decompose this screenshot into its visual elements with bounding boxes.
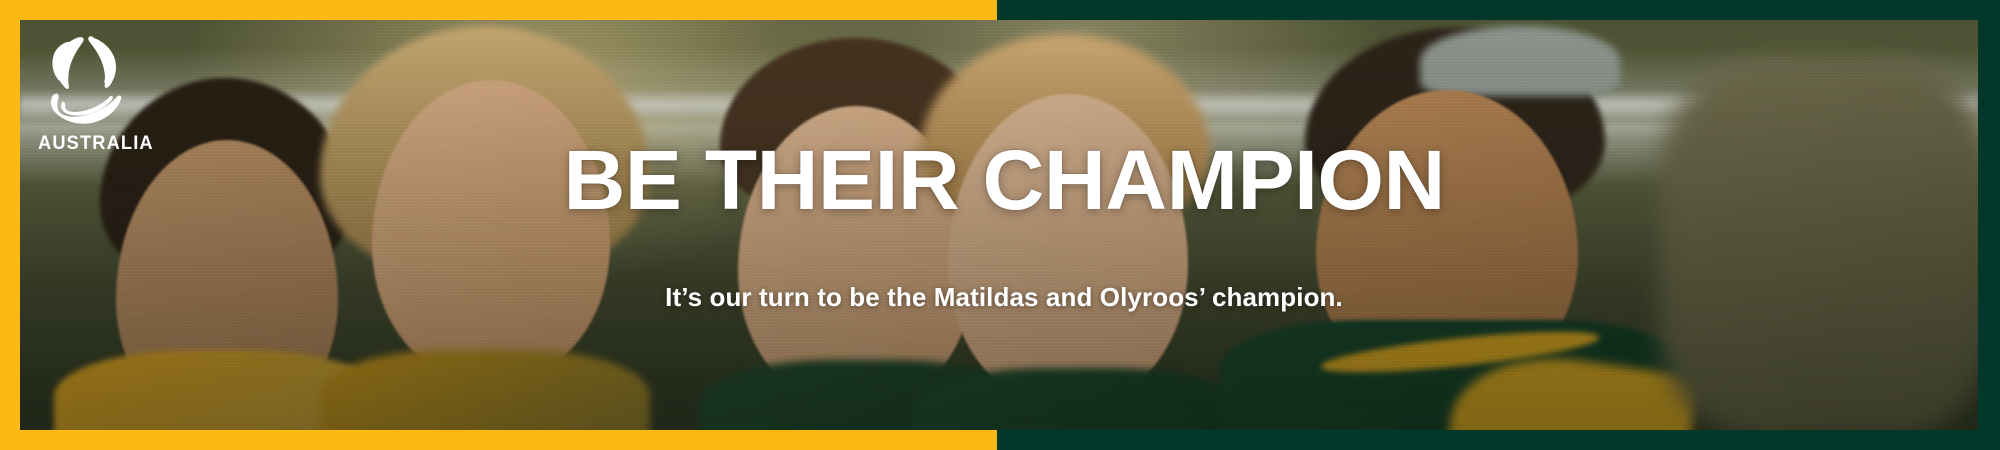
brand-logo-lockup[interactable]: AUSTRALIA xyxy=(38,32,158,153)
photo-grain xyxy=(20,20,1978,430)
campaign-banner[interactable]: AUSTRALIA BE THEIR CHAMPION It’s our tur… xyxy=(0,0,2000,450)
brand-wordmark: AUSTRALIA xyxy=(38,134,153,153)
banner-photo xyxy=(20,20,1978,430)
football-australia-logo-icon xyxy=(38,32,130,128)
